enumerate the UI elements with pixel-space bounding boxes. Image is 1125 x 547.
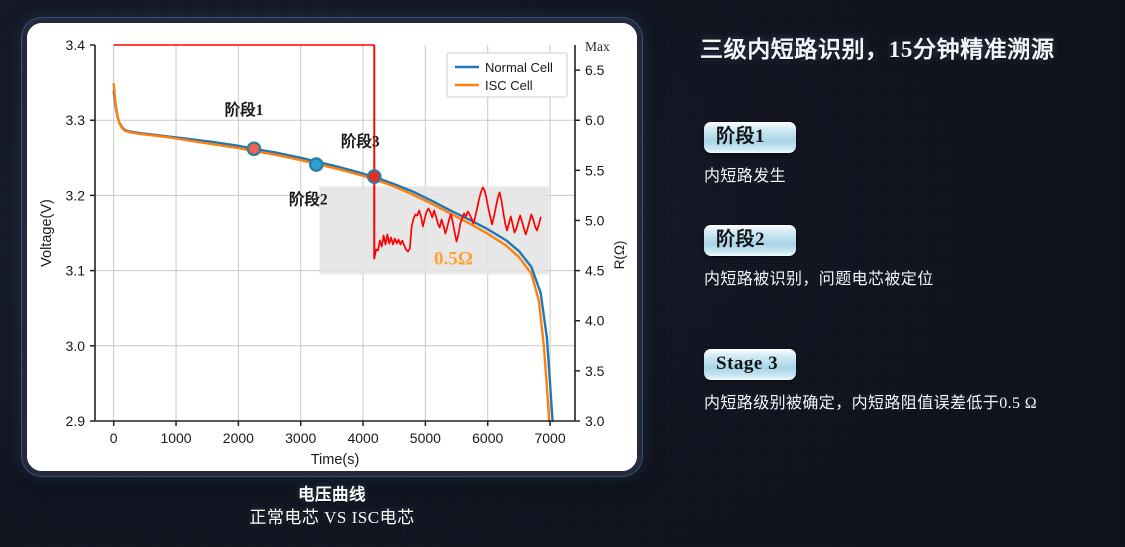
tick-label-x: 1000 bbox=[160, 430, 191, 446]
tick-label-y-left: 3.4 bbox=[66, 37, 86, 53]
tick-label-y-right: 4.0 bbox=[585, 313, 605, 329]
tick-label-x: 0 bbox=[110, 430, 118, 446]
panel-title: 三级内短路识别，15分钟精准溯源 bbox=[700, 30, 1110, 64]
tick-label-y-right: 6.5 bbox=[585, 62, 605, 78]
tick-label-y-right: 6.0 bbox=[585, 112, 605, 128]
tick-label-y-left: 3.0 bbox=[66, 338, 86, 354]
voltage-chart-svg: 2.93.03.13.23.33.43.03.54.04.55.05.56.06… bbox=[27, 23, 637, 471]
stage-desc-2: 内短路被识别，问题电芯被定位 bbox=[704, 265, 934, 289]
caption-title: 电压曲线 bbox=[22, 484, 642, 506]
right-axis-max-label: Max bbox=[585, 39, 610, 54]
tick-label-y-left: 2.9 bbox=[66, 413, 86, 429]
tick-label-x: 3000 bbox=[285, 430, 316, 446]
stage-badge-3[interactable]: Stage 3 bbox=[704, 349, 796, 380]
stage-marker-2[interactable] bbox=[310, 158, 322, 170]
stage-block-2: 阶段2 内短路被识别，问题电芯被定位 bbox=[704, 225, 934, 289]
info-panel: 三级内短路识别，15分钟精准溯源 阶段1 内短路发生 阶段2 内短路被识别，问题… bbox=[700, 22, 1110, 522]
tick-label-y-right: 4.5 bbox=[585, 263, 605, 279]
chart-caption: 电压曲线 正常电芯 VS ISC电芯 bbox=[22, 484, 642, 530]
stage-annotation-1: 阶段1 bbox=[225, 100, 264, 119]
legend-label-1: ISC Cell bbox=[485, 78, 533, 93]
stage-annotation-3: 阶段3 bbox=[341, 132, 380, 151]
axis-label-x: Time(s) bbox=[311, 452, 360, 468]
tick-label-x: 4000 bbox=[347, 430, 378, 446]
tick-label-x: 5000 bbox=[410, 430, 441, 446]
stage-annotation-2: 阶段2 bbox=[289, 190, 328, 209]
stage-marker-1[interactable] bbox=[248, 143, 260, 155]
stage-block-3: Stage 3 内短路级别被确定，内短路阻值误差低于0.5 Ω bbox=[704, 349, 1037, 413]
legend-label-0: Normal Cell bbox=[485, 60, 553, 75]
tick-label-y-left: 3.2 bbox=[66, 187, 86, 203]
stage-badge-2[interactable]: 阶段2 bbox=[704, 225, 796, 256]
tick-label-y-right: 5.0 bbox=[585, 212, 605, 228]
tick-label-y-left: 3.3 bbox=[66, 112, 86, 128]
resistance-value-label: 0.5Ω bbox=[434, 249, 473, 270]
axis-label-y: Voltage(V) bbox=[39, 199, 55, 267]
tick-label-x: 6000 bbox=[472, 430, 503, 446]
caption-subtitle: 正常电芯 VS ISC电芯 bbox=[22, 506, 642, 530]
stage-marker-3[interactable] bbox=[368, 170, 380, 182]
tick-label-x: 2000 bbox=[223, 430, 254, 446]
stage-desc-1: 内短路发生 bbox=[704, 162, 796, 186]
tick-label-y-right: 3.0 bbox=[585, 413, 605, 429]
voltage-chart-card: 2.93.03.13.23.33.43.03.54.04.55.05.56.06… bbox=[22, 18, 642, 476]
stage-block-1: 阶段1 内短路发生 bbox=[704, 122, 796, 186]
stage-badge-1[interactable]: 阶段1 bbox=[704, 122, 796, 153]
tick-label-y-right: 5.5 bbox=[585, 162, 605, 178]
tick-label-y-left: 3.1 bbox=[66, 263, 86, 279]
tick-label-y-right: 3.5 bbox=[585, 363, 605, 379]
tick-label-x: 7000 bbox=[534, 430, 565, 446]
stage-desc-3: 内短路级别被确定，内短路阻值误差低于0.5 Ω bbox=[704, 389, 1037, 413]
axis-label-y2: R(Ω) bbox=[612, 241, 627, 270]
